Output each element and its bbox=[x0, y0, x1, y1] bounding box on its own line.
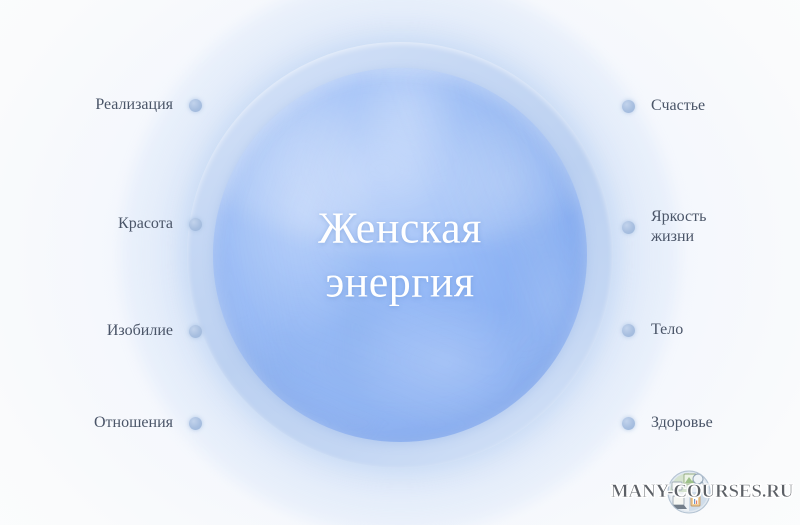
node-dot-icon-schastie bbox=[622, 100, 635, 113]
node-label-schastie: Счастье bbox=[651, 96, 705, 116]
node-dot-icon-telo bbox=[622, 324, 635, 337]
node-otnosheniya[interactable]: Отношения bbox=[94, 413, 202, 433]
node-label-zdorovie: Здоровье bbox=[651, 413, 713, 433]
node-label-line: Счастье bbox=[651, 96, 705, 116]
watermark: MANY-COURSES.RU bbox=[612, 467, 792, 517]
node-label-line: жизни bbox=[651, 227, 706, 247]
node-label-line: Яркость bbox=[651, 207, 706, 227]
node-label-izobilie: Изобилие bbox=[107, 321, 173, 341]
node-realizacia[interactable]: Реализация bbox=[95, 95, 202, 115]
node-label-line: Изобилие bbox=[107, 321, 173, 341]
node-dot-icon-zdorovie bbox=[622, 417, 635, 430]
node-izobilie[interactable]: Изобилие bbox=[107, 321, 202, 341]
node-telo[interactable]: Тело bbox=[622, 320, 683, 340]
infographic-canvas: Женская энергия Реализация Красота Изоби… bbox=[0, 0, 800, 525]
node-dot-icon-krasota bbox=[189, 218, 202, 231]
node-label-realizacia: Реализация bbox=[95, 95, 173, 115]
core-gloss-highlight bbox=[213, 68, 587, 248]
node-label-line: Тело bbox=[651, 320, 683, 340]
node-label-line: Здоровье bbox=[651, 413, 713, 433]
node-label-line: Отношения bbox=[94, 413, 173, 433]
node-dot-icon-yarkost bbox=[622, 221, 635, 234]
node-krasota[interactable]: Красота bbox=[118, 214, 202, 234]
node-label-otnosheniya: Отношения bbox=[94, 413, 173, 433]
node-zdorovie[interactable]: Здоровье bbox=[622, 413, 713, 433]
node-label-line: Красота bbox=[118, 214, 173, 234]
node-dot-icon-otnosheniya bbox=[189, 417, 202, 430]
inner-core-circle bbox=[213, 68, 587, 442]
node-label-krasota: Красота bbox=[118, 214, 173, 234]
node-label-yarkost-zhizni: Яркость жизни bbox=[651, 207, 706, 248]
node-dot-icon-realizacia bbox=[189, 99, 202, 112]
node-label-telo: Тело bbox=[651, 320, 683, 340]
node-label-line: Реализация bbox=[95, 95, 173, 115]
node-yarkost-zhizni[interactable]: Яркость жизни bbox=[622, 207, 706, 248]
node-dot-icon-izobilie bbox=[189, 325, 202, 338]
watermark-text: MANY-COURSES.RU bbox=[611, 481, 794, 503]
node-schastie[interactable]: Счастье bbox=[622, 96, 705, 116]
